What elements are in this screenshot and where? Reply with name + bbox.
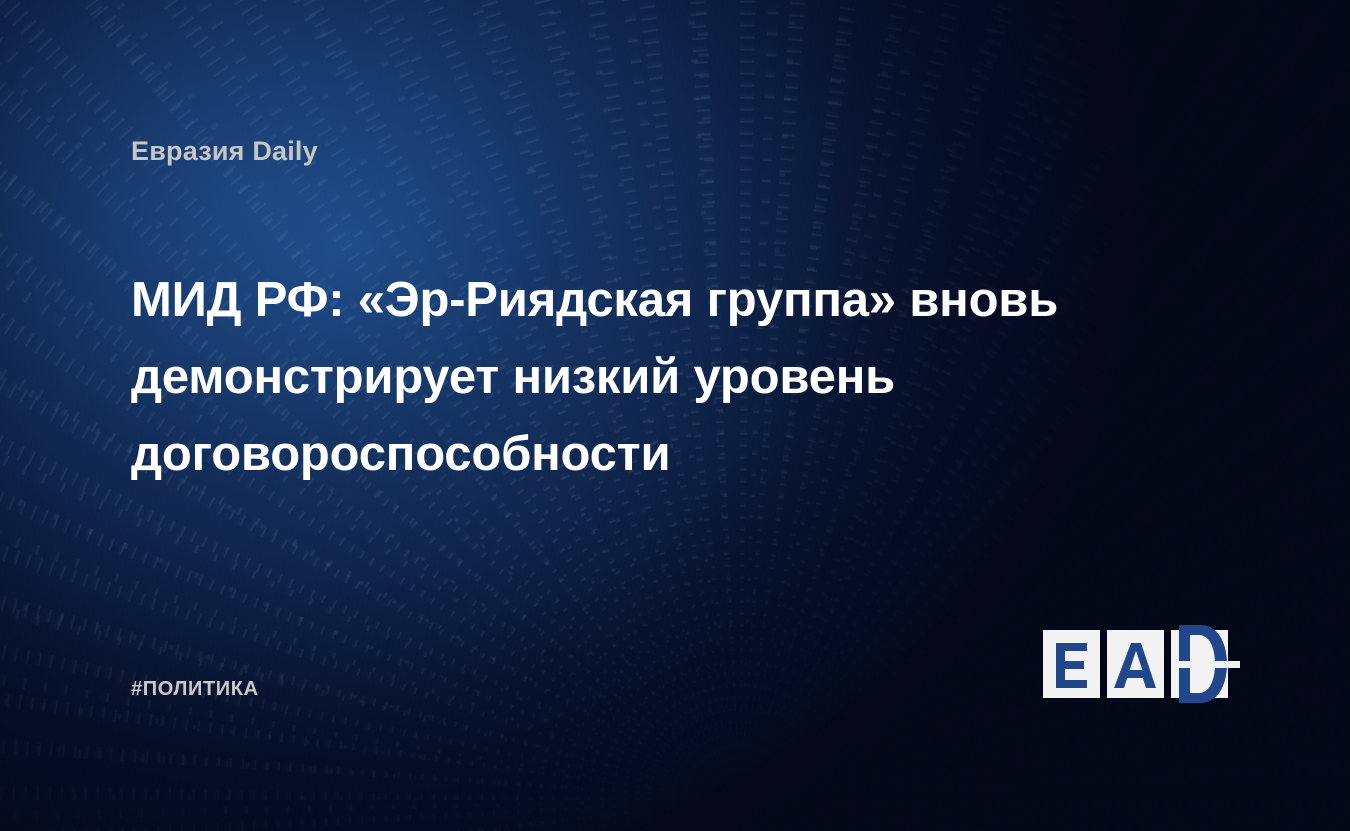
logo-tile-d: [1171, 630, 1228, 698]
eadaily-logo[interactable]: [1043, 630, 1228, 698]
social-share-card: Евразия Daily МИД РФ: «Эр-Риядская групп…: [0, 0, 1350, 831]
page-title: МИД РФ: «Эр-Риядская группа» вновь демон…: [131, 262, 1201, 493]
logo-d-gap: [1171, 661, 1240, 668]
logo-letter-e-icon: [1052, 641, 1092, 688]
category-tag[interactable]: #ПОЛИТИКА: [131, 678, 259, 701]
logo-letter-a-icon: [1114, 641, 1158, 688]
brand-wordmark: Евразия Daily: [131, 136, 318, 167]
headline-line-3: договороспособности: [131, 416, 1201, 493]
card-content: Евразия Daily МИД РФ: «Эр-Риядская групп…: [0, 0, 1350, 831]
headline-line-1: МИД РФ: «Эр-Риядская группа» вновь: [131, 262, 1201, 339]
logo-tile-a: [1107, 630, 1164, 698]
logo-tile-e: [1043, 630, 1100, 698]
headline-line-2: демонстрирует низкий уровень: [131, 339, 1201, 416]
